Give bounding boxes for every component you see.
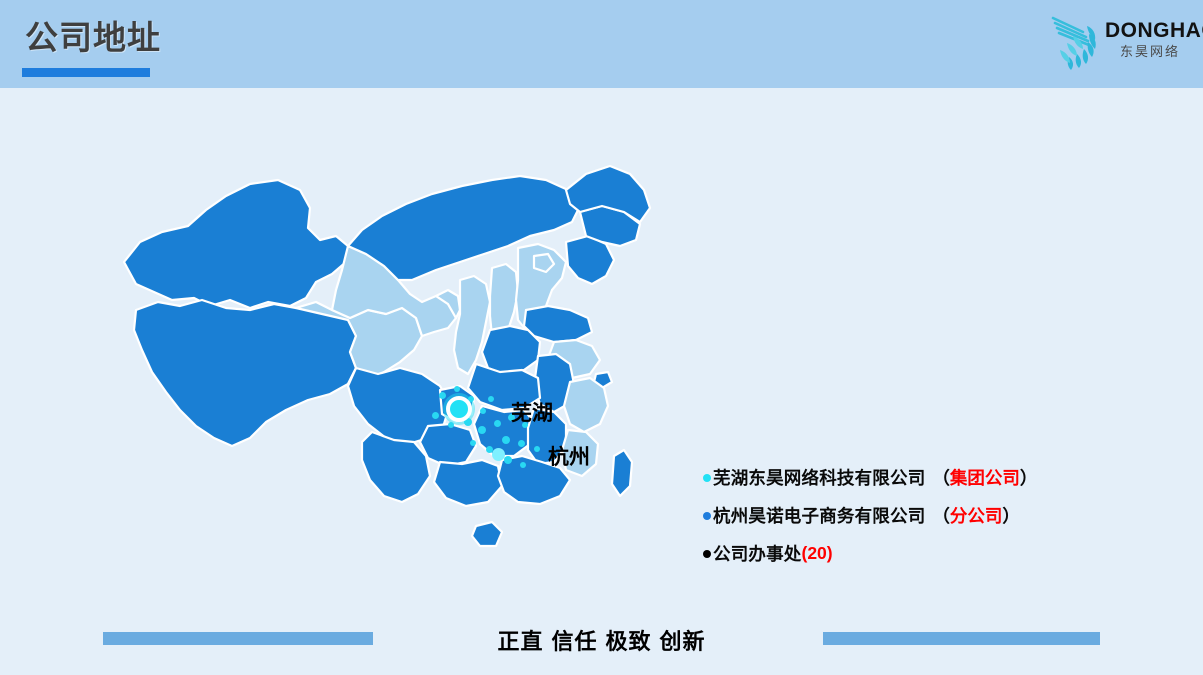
city-label-wuhu: 芜湖 xyxy=(511,403,553,424)
legend-paren-open: （ xyxy=(932,503,950,528)
footer-slogan: 正直信任极致创新 xyxy=(0,624,1203,656)
legend-paren-close: ） xyxy=(1020,465,1038,490)
legend-tag: 分公司 xyxy=(950,503,1003,528)
province-xinjiang xyxy=(124,180,348,308)
slogan-word-1: 正直 xyxy=(493,629,547,654)
legend-label: 杭州昊诺电子商务有限公司 xyxy=(713,503,925,528)
office-dot xyxy=(488,396,494,402)
province-hainan xyxy=(472,522,502,546)
province-henan xyxy=(482,326,540,374)
province-guizhou xyxy=(420,424,476,466)
office-dot xyxy=(520,462,526,468)
slogan-word-4: 创新 xyxy=(656,629,710,654)
province-guangxi xyxy=(434,460,502,506)
legend-tag: 集团公司 xyxy=(950,465,1020,490)
office-dot xyxy=(448,422,454,428)
office-dot xyxy=(478,426,486,434)
china-map-svg xyxy=(110,150,690,610)
slogan-word-2: 信任 xyxy=(547,629,601,654)
legend-paren-close: ） xyxy=(1002,503,1020,528)
office-dot xyxy=(454,386,460,392)
city-label-hangzhou: 杭州 xyxy=(548,447,590,468)
office-dot xyxy=(432,412,439,419)
legend-tag: (20) xyxy=(802,543,833,564)
legend-paren-open: （ xyxy=(932,465,950,490)
office-dot xyxy=(480,408,486,414)
legend-label: 公司办事处 xyxy=(713,541,802,566)
page-title: 公司地址 xyxy=(25,21,161,54)
company-logo: DONGHAO 东昊网络 xyxy=(1043,8,1193,76)
legend-item-branch-company: 杭州昊诺电子商务有限公司 （ 分公司 ） xyxy=(703,496,1123,534)
province-zhejiang xyxy=(564,378,608,432)
legend-label: 芜湖东昊网络科技有限公司 xyxy=(713,465,925,490)
office-dot xyxy=(439,392,446,399)
logo-subtitle: 东昊网络 xyxy=(1105,42,1193,62)
province-taiwan xyxy=(612,450,632,496)
slogan-word-3: 极致 xyxy=(602,629,656,654)
wuhu-headquarters-marker[interactable] xyxy=(446,396,472,422)
office-dot xyxy=(504,456,512,464)
slide-canvas: 公司地址 xyxy=(0,0,1203,675)
legend-bullet-icon xyxy=(703,512,711,520)
logo-text-block: DONGHAO 东昊网络 xyxy=(1105,20,1193,62)
office-dot xyxy=(494,420,501,427)
logo-name: DONGHAO xyxy=(1105,20,1193,42)
china-map xyxy=(110,150,690,610)
office-dot xyxy=(518,440,525,447)
slide-header: 公司地址 xyxy=(0,0,1203,88)
province-tibet xyxy=(134,300,356,446)
legend-item-group-company: 芜湖东昊网络科技有限公司 （ 集团公司 ） xyxy=(703,458,1123,496)
title-underline-bar xyxy=(22,68,150,77)
office-dot xyxy=(534,446,540,452)
donghao-feather-logo-icon xyxy=(1043,10,1105,72)
legend: 芜湖东昊网络科技有限公司 （ 集团公司 ） 杭州昊诺电子商务有限公司 （ 分公司… xyxy=(703,458,1123,572)
hangzhou-marker-dot xyxy=(492,448,505,461)
legend-bullet-icon xyxy=(703,474,711,482)
office-dot xyxy=(470,440,476,446)
legend-bullet-icon xyxy=(703,550,711,558)
office-dot xyxy=(502,436,510,444)
legend-item-offices: 公司办事处 (20) xyxy=(703,534,1123,572)
